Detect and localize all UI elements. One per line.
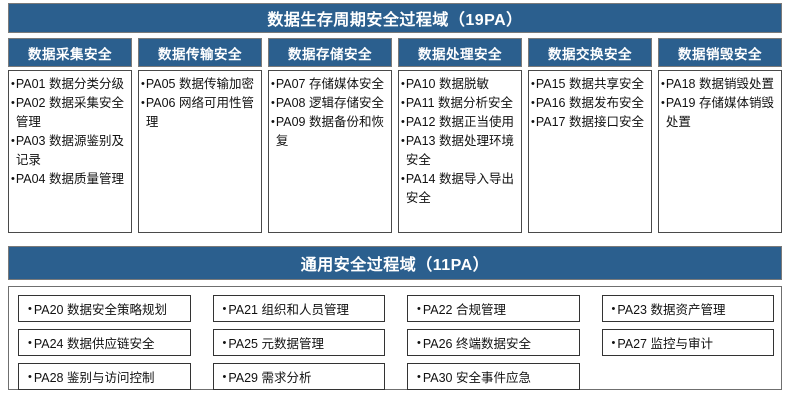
general-item-pa25: • PA25 元数据管理 — [213, 329, 386, 356]
general-cell: • PA28 鉴别与访问控制 — [18, 363, 191, 390]
list-item: • PA02 数据采集安全管理 — [11, 94, 128, 132]
general-item-pa23: • PA23 数据资产管理 — [602, 295, 775, 322]
general-item-empty — [602, 363, 775, 390]
column-header-processing: 数据处理安全 — [398, 38, 522, 67]
lifecycle-column-transmission: 数据传输安全 • PA05 数据传输加密 • PA06 网络可用性管理 — [138, 38, 262, 233]
general-item-pa21: • PA21 组织和人员管理 — [213, 295, 386, 322]
general-cell: • PA22 合规管理 — [407, 295, 580, 322]
pa-label: PA27 监控与审计 — [617, 333, 713, 352]
data-lifecycle-section: 数据生存周期安全过程域（19PA） 数据采集安全 • PA01 数据分类分级 •… — [8, 3, 782, 233]
general-cell-empty — [602, 363, 775, 390]
pa-label: PA15 数据共享安全 — [536, 75, 648, 94]
lifecycle-column-destruction: 数据销毁安全 • PA18 数据销毁处置 • PA19 存储媒体销毁处置 — [658, 38, 782, 233]
general-item-pa29: • PA29 需求分析 — [213, 363, 386, 390]
list-item: • PA13 数据处理环境安全 — [401, 132, 518, 170]
column-body-exchange: • PA15 数据共享安全 • PA16 数据发布安全 • PA17 数据接口安… — [528, 70, 652, 233]
pa-label: PA25 元数据管理 — [228, 333, 324, 352]
list-item: • PA07 存储媒体安全 — [271, 75, 388, 94]
list-item: • PA19 存储媒体销毁处置 — [661, 94, 778, 132]
pa-label: PA17 数据接口安全 — [536, 113, 648, 132]
list-item: • PA12 数据正当使用 — [401, 113, 518, 132]
list-item: • PA11 数据分析安全 — [401, 94, 518, 113]
pa-label: PA18 数据销毁处置 — [666, 75, 778, 94]
pa-label: PA30 安全事件应急 — [423, 367, 531, 386]
general-item-pa27: • PA27 监控与审计 — [602, 329, 775, 356]
pa-label: PA28 鉴别与访问控制 — [34, 367, 155, 386]
list-item: • PA05 数据传输加密 — [141, 75, 258, 94]
general-item-pa24: • PA24 数据供应链安全 — [18, 329, 191, 356]
column-body-storage: • PA07 存储媒体安全 • PA08 逻辑存储安全 • PA09 数据备份和… — [268, 70, 392, 233]
column-header-storage: 数据存储安全 — [268, 38, 392, 67]
lifecycle-column-group: 数据采集安全 • PA01 数据分类分级 • PA02 数据采集安全管理 • P… — [8, 38, 782, 233]
pa-label: PA14 数据导入导出安全 — [406, 170, 518, 208]
general-row: • PA28 鉴别与访问控制 • PA29 需求分析 • PA30 安全事件应急 — [18, 363, 774, 390]
pa-label: PA16 数据发布安全 — [536, 94, 648, 113]
pa-label: PA06 网络可用性管理 — [146, 94, 258, 132]
column-body-destruction: • PA18 数据销毁处置 • PA19 存储媒体销毁处置 — [658, 70, 782, 233]
list-item: • PA18 数据销毁处置 — [661, 75, 778, 94]
pa-label: PA20 数据安全策略规划 — [34, 299, 167, 318]
pa-label: PA23 数据资产管理 — [617, 299, 725, 318]
pa-label: PA24 数据供应链安全 — [34, 333, 155, 352]
pa-label: PA29 需求分析 — [228, 367, 311, 386]
pa-label: PA21 组织和人员管理 — [228, 299, 349, 318]
lifecycle-column-storage: 数据存储安全 • PA07 存储媒体安全 • PA08 逻辑存储安全 • PA0… — [268, 38, 392, 233]
general-cell: • PA30 安全事件应急 — [407, 363, 580, 390]
general-cell: • PA24 数据供应链安全 — [18, 329, 191, 356]
pa-label: PA08 逻辑存储安全 — [276, 94, 388, 113]
pa-label: PA05 数据传输加密 — [146, 75, 258, 94]
general-cell: • PA20 数据安全策略规划 — [18, 295, 191, 322]
column-header-destruction: 数据销毁安全 — [658, 38, 782, 67]
lifecycle-column-collection: 数据采集安全 • PA01 数据分类分级 • PA02 数据采集安全管理 • P… — [8, 38, 132, 233]
column-body-transmission: • PA05 数据传输加密 • PA06 网络可用性管理 — [138, 70, 262, 233]
general-item-pa28: • PA28 鉴别与访问控制 — [18, 363, 191, 390]
pa-label: PA02 数据采集安全管理 — [16, 94, 128, 132]
general-row: • PA20 数据安全策略规划 • PA21 组织和人员管理 • PA22 合规… — [18, 295, 774, 322]
list-item: • PA09 数据备份和恢复 — [271, 113, 388, 151]
general-section-title: 通用安全过程域（11PA） — [8, 246, 782, 280]
list-item: • PA15 数据共享安全 — [531, 75, 648, 94]
general-security-section: 通用安全过程域（11PA） • PA20 数据安全策略规划 • PA21 组织和… — [8, 246, 782, 390]
list-item: • PA16 数据发布安全 — [531, 94, 648, 113]
list-item: • PA14 数据导入导出安全 — [401, 170, 518, 208]
list-item: • PA06 网络可用性管理 — [141, 94, 258, 132]
pa-label: PA10 数据脱敏 — [406, 75, 518, 94]
general-row: • PA24 数据供应链安全 • PA25 元数据管理 • PA26 终端数据安… — [18, 329, 774, 356]
pa-label: PA11 数据分析安全 — [406, 94, 518, 113]
column-body-processing: • PA10 数据脱敏 • PA11 数据分析安全 • PA12 数据正当使用 … — [398, 70, 522, 233]
general-item-pa22: • PA22 合规管理 — [407, 295, 580, 322]
list-item: • PA10 数据脱敏 — [401, 75, 518, 94]
column-header-transmission: 数据传输安全 — [138, 38, 262, 67]
general-item-pa20: • PA20 数据安全策略规划 — [18, 295, 191, 322]
list-item: • PA17 数据接口安全 — [531, 113, 648, 132]
general-item-pa30: • PA30 安全事件应急 — [407, 363, 580, 390]
pa-label: PA07 存储媒体安全 — [276, 75, 388, 94]
pa-label: PA22 合规管理 — [423, 299, 506, 318]
general-item-pa26: • PA26 终端数据安全 — [407, 329, 580, 356]
general-cell: • PA21 组织和人员管理 — [213, 295, 386, 322]
pa-label: PA13 数据处理环境安全 — [406, 132, 518, 170]
list-item: • PA08 逻辑存储安全 — [271, 94, 388, 113]
pa-label: PA19 存储媒体销毁处置 — [666, 94, 778, 132]
pa-label: PA26 终端数据安全 — [423, 333, 531, 352]
general-cell: • PA23 数据资产管理 — [602, 295, 775, 322]
list-item: • PA03 数据源鉴别及记录 — [11, 132, 128, 170]
general-items-container: • PA20 数据安全策略规划 • PA21 组织和人员管理 • PA22 合规… — [8, 286, 782, 390]
general-cell: • PA27 监控与审计 — [602, 329, 775, 356]
lifecycle-section-title: 数据生存周期安全过程域（19PA） — [8, 3, 782, 33]
general-cell: • PA29 需求分析 — [213, 363, 386, 390]
general-cell: • PA25 元数据管理 — [213, 329, 386, 356]
column-body-collection: • PA01 数据分类分级 • PA02 数据采集安全管理 • PA03 数据源… — [8, 70, 132, 233]
pa-label: PA01 数据分类分级 — [16, 75, 128, 94]
general-cell: • PA26 终端数据安全 — [407, 329, 580, 356]
lifecycle-column-processing: 数据处理安全 • PA10 数据脱敏 • PA11 数据分析安全 • PA12 … — [398, 38, 522, 233]
column-header-exchange: 数据交换安全 — [528, 38, 652, 67]
lifecycle-column-exchange: 数据交换安全 • PA15 数据共享安全 • PA16 数据发布安全 • PA1… — [528, 38, 652, 233]
pa-label: PA12 数据正当使用 — [406, 113, 518, 132]
column-header-collection: 数据采集安全 — [8, 38, 132, 67]
pa-label: PA09 数据备份和恢复 — [276, 113, 388, 151]
list-item: • PA04 数据质量管理 — [11, 170, 128, 189]
pa-label: PA03 数据源鉴别及记录 — [16, 132, 128, 170]
list-item: • PA01 数据分类分级 — [11, 75, 128, 94]
pa-label: PA04 数据质量管理 — [16, 170, 128, 189]
